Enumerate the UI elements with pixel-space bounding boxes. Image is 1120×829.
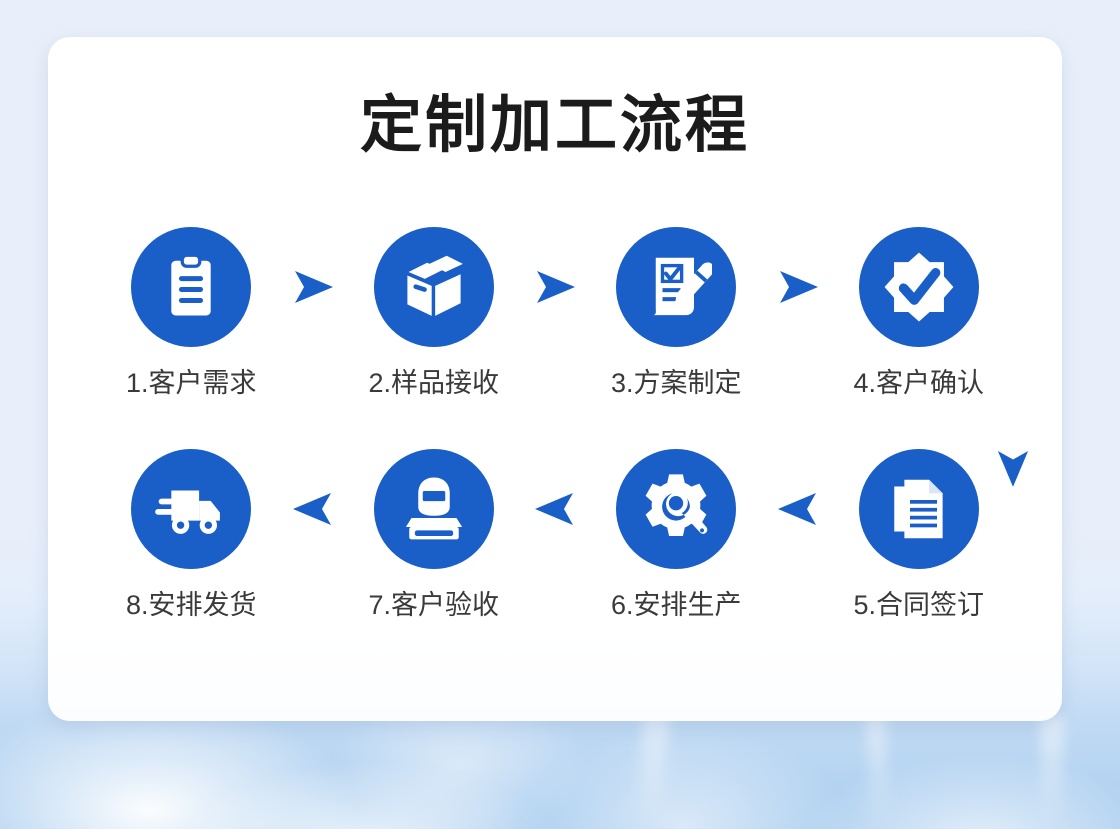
step-icon-badge	[859, 449, 979, 569]
step-icon-badge	[131, 227, 251, 347]
step-label: 1.客户需求	[126, 369, 257, 399]
arrow-right-icon	[776, 269, 820, 305]
flow-step-8[interactable]: 8.安排发货	[108, 449, 275, 621]
flow-step-1[interactable]: 1.客户需求	[108, 227, 275, 399]
arrow-down-icon	[992, 451, 1034, 485]
page-title: 定制加工流程	[48, 95, 1062, 157]
step-label: 3.方案制定	[611, 369, 742, 399]
verified-check-badge-icon	[881, 249, 957, 325]
clipboard-icon	[156, 252, 226, 322]
step-icon-badge	[616, 227, 736, 347]
flow-connector-7-8	[275, 449, 351, 569]
flow-connector-1-2	[275, 227, 351, 347]
step-icon-badge	[374, 449, 494, 569]
process-flow-diagram: 1.客户需求	[108, 227, 1002, 671]
step-label: 7.客户验收	[368, 591, 499, 621]
arrow-left-icon	[533, 491, 577, 527]
flow-step-6[interactable]: 6.安排生产	[593, 449, 760, 621]
step-icon-badge	[131, 449, 251, 569]
contract-pages-icon	[883, 473, 955, 545]
flow-step-5[interactable]: 5.合同签订	[836, 449, 1003, 621]
gear-wrench-icon	[639, 472, 713, 546]
cloud-shape	[180, 762, 560, 829]
flow-row-top: 1.客户需求	[108, 227, 1002, 449]
arrow-left-icon	[776, 491, 820, 527]
flow-step-4[interactable]: 4.客户确认	[836, 227, 1003, 399]
step-label: 4.客户确认	[853, 369, 984, 399]
flow-row-bottom: 8.安排发货	[108, 449, 1002, 671]
flow-connector-6-7	[517, 449, 593, 569]
delivery-truck-icon	[154, 472, 228, 546]
step-label: 2.样品接收	[368, 369, 499, 399]
flow-step-7[interactable]: 7.客户验收	[351, 449, 518, 621]
step-icon-badge	[859, 227, 979, 347]
flow-step-3[interactable]: 3.方案制定	[593, 227, 760, 399]
arrow-right-icon	[291, 269, 335, 305]
arrow-left-icon	[291, 491, 335, 527]
step-label: 6.安排生产	[611, 591, 742, 621]
flow-connector-4-5	[989, 448, 1037, 488]
arrow-right-icon	[533, 269, 577, 305]
inspector-stamp-icon	[398, 473, 470, 545]
step-label: 8.安排发货	[126, 591, 257, 621]
cloud-streak	[636, 705, 670, 827]
process-card: 定制加工流程 1.客户需求	[48, 37, 1062, 721]
step-icon-badge	[616, 449, 736, 569]
cloud-shape	[520, 726, 850, 829]
flow-connector-2-3	[517, 227, 593, 347]
cloud-shape	[800, 754, 1120, 829]
step-icon-badge	[374, 227, 494, 347]
flow-step-2[interactable]: 2.样品接收	[351, 227, 518, 399]
package-box-icon	[397, 250, 471, 324]
flow-connector-3-4	[760, 227, 836, 347]
cloud-streak	[1040, 716, 1064, 826]
document-pencil-icon	[640, 251, 712, 323]
step-label: 5.合同签订	[853, 591, 984, 621]
flow-connector-5-6	[760, 449, 836, 569]
